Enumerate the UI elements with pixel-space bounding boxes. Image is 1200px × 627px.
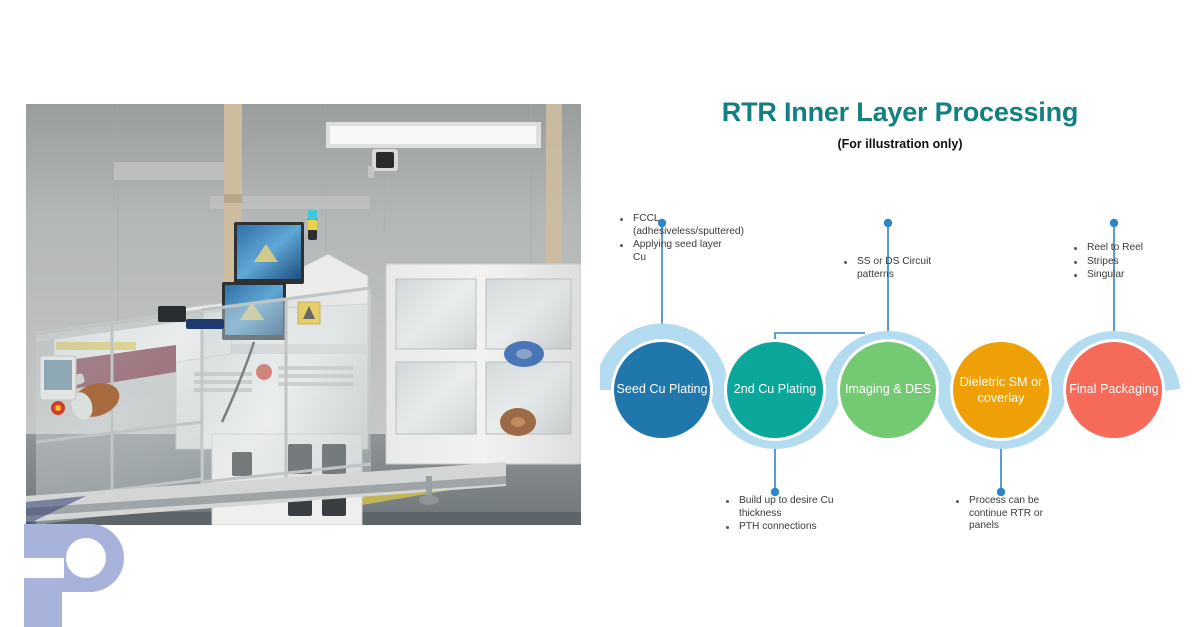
callout-imaging-and-des: SS or DS Circuit patterns bbox=[836, 256, 946, 282]
callout-item: SS or DS Circuit patterns bbox=[836, 256, 946, 281]
callout-dieletric-sm: Process can be continue RTR or panels bbox=[948, 495, 1058, 534]
callout-final-packaging: Reel to Reel Stripes Singular bbox=[1066, 242, 1186, 283]
callout-item: FCCL (adhesiveless/sputtered) bbox=[612, 213, 722, 238]
callout-second-cu-plating: Build up to desire Cu thickness PTH conn… bbox=[718, 495, 838, 535]
callout-item: PTH connections bbox=[718, 521, 838, 534]
node-circle-dieletric-sm[interactable] bbox=[953, 342, 1049, 438]
callout-item: Applying seed layer Cu bbox=[612, 239, 722, 264]
mid-enclosure bbox=[202, 286, 371, 502]
process-equipment-photo bbox=[26, 104, 581, 525]
node-circle-second-cu-plating[interactable] bbox=[727, 342, 823, 438]
callout-item: Process can be continue RTR or panels bbox=[948, 495, 1058, 533]
callout-item: Stripes bbox=[1066, 256, 1186, 269]
node-circle-seed-cu-plating[interactable] bbox=[614, 342, 710, 438]
page-subtitle: (For illustration only) bbox=[600, 137, 1200, 151]
page-title: RTR Inner Layer Processing bbox=[600, 97, 1200, 128]
callout-seed-cu-plating: FCCL (adhesiveless/sputtered) Applying s… bbox=[612, 213, 722, 265]
slide-canvas: RTR Inner Layer Processing (For illustra… bbox=[0, 0, 1200, 627]
photo-illustration bbox=[26, 104, 581, 525]
callout-item: Singular bbox=[1066, 269, 1186, 282]
callout-item: Build up to desire Cu thickness bbox=[718, 495, 838, 520]
node-circle-imaging-and-des[interactable] bbox=[840, 342, 936, 438]
callout-item: Reel to Reel bbox=[1066, 242, 1186, 255]
node-circle-final-packaging[interactable] bbox=[1066, 342, 1162, 438]
